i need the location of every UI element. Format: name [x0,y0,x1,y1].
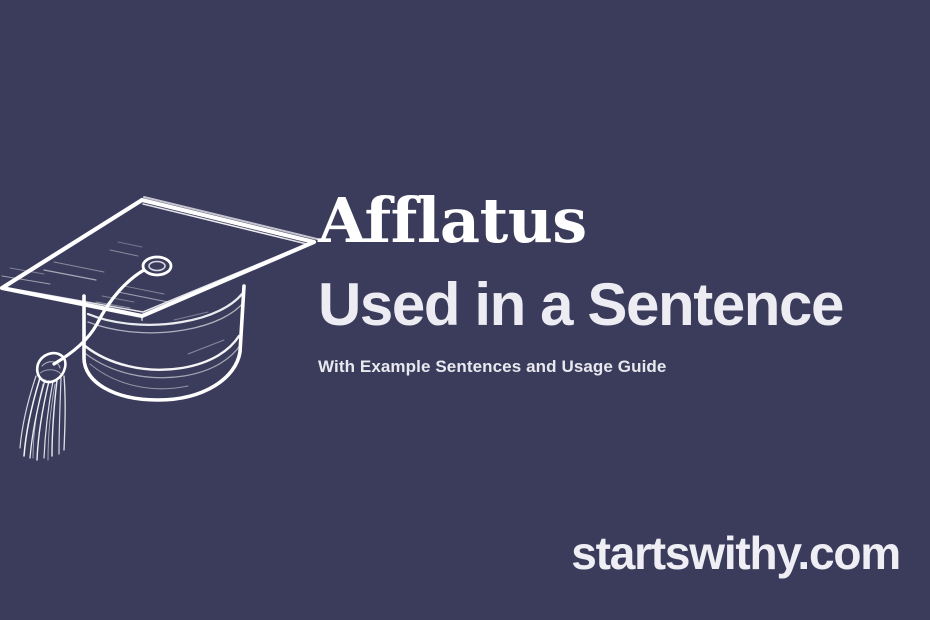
page-title: Used in a Sentence [318,274,918,335]
headline-text-block: Afflatus Used in a Sentence With Example… [318,190,918,377]
banner-canvas: Afflatus Used in a Sentence With Example… [0,0,930,620]
graduation-cap-icon [0,168,322,458]
site-brand-name: startswithy.com [571,526,900,580]
vocabulary-word-title: Afflatus [318,190,918,252]
page-subtitle: With Example Sentences and Usage Guide [318,357,918,377]
